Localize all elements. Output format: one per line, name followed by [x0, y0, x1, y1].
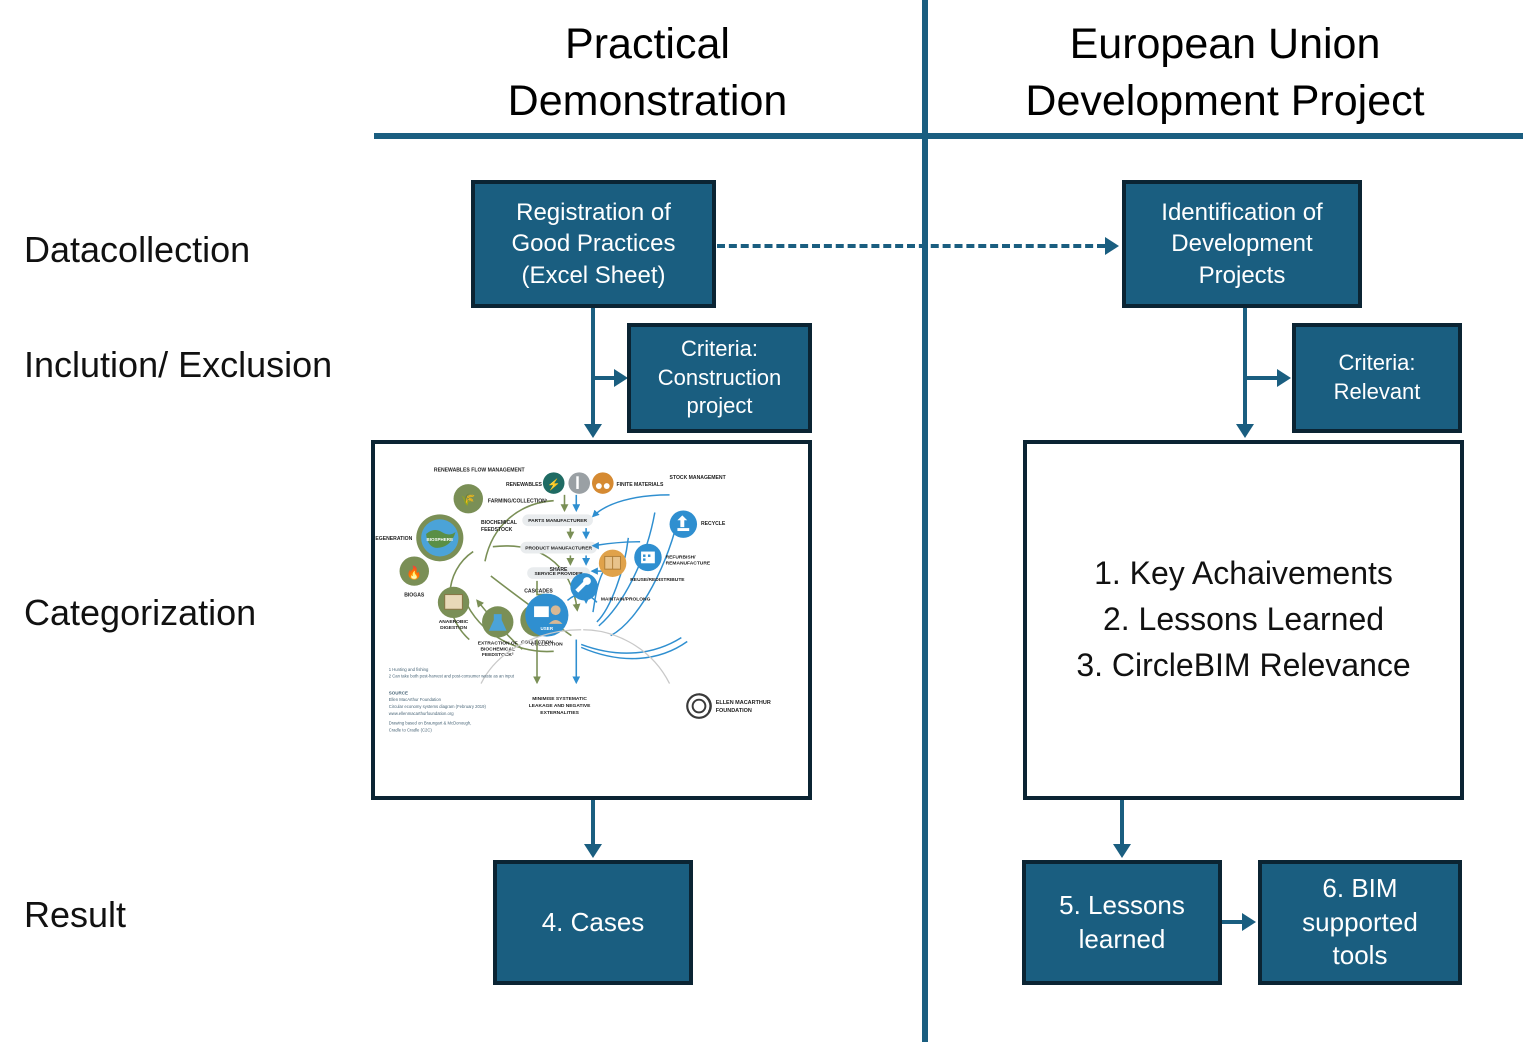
svg-text:Cradle to Cradle (C2C): Cradle to Cradle (C2C) [389, 727, 433, 732]
connector-identification-down [1243, 308, 1247, 426]
svg-text:PARTS MANUFACTURER: PARTS MANUFACTURER [528, 518, 587, 524]
svg-text:USER: USER [541, 626, 554, 631]
panel-categorization-steps: 1. Key Achaivements 2. Lessons Learned 3… [1023, 440, 1464, 800]
svg-text:BIOSPHERE: BIOSPHERE [427, 537, 454, 542]
column-divider [922, 0, 928, 1042]
panel-circular-economy-diagram: ⚡ RENEWABLES FINITE MATERIALS RENEWABLES… [371, 440, 812, 800]
ellen-macarthur-foundation-logo: ELLEN MACARTHUR FOUNDATION [687, 694, 771, 717]
svg-text:DIGESTION: DIGESTION [440, 625, 467, 631]
box-identification-of-development-projects[interactable]: Identification of Development Projects [1122, 180, 1362, 308]
circular-economy-butterfly-icon: ⚡ RENEWABLES FINITE MATERIALS RENEWABLES… [375, 444, 808, 796]
box-result-lessons-learned[interactable]: 5. Lessons learned [1022, 860, 1222, 985]
arrowhead-criteria-left [614, 369, 628, 387]
svg-text:FARMING/COLLECTION¹: FARMING/COLLECTION¹ [488, 499, 548, 505]
arrowhead-lessons-down [1113, 844, 1131, 858]
connector-butterfly-to-cases [591, 800, 595, 846]
svg-text:MAINTAIN/PROLONG: MAINTAIN/PROLONG [601, 596, 651, 602]
svg-text:ANAEROBIC: ANAEROBIC [439, 619, 469, 625]
svg-text:REFURBISH/: REFURBISH/ [666, 554, 697, 560]
column-header-eu-development-project: European Union Development Project [935, 16, 1515, 130]
svg-text:LEAKAGE AND NEGATIVE: LEAKAGE AND NEGATIVE [529, 703, 591, 709]
connector-registration-down [591, 308, 595, 426]
svg-text:FINITE MATERIALS: FINITE MATERIALS [617, 482, 664, 488]
categorization-steps-list: 1. Key Achaivements 2. Lessons Learned 3… [1076, 551, 1410, 688]
svg-text:REGENERATION: REGENERATION [375, 536, 413, 542]
svg-text:🌾: 🌾 [461, 493, 476, 507]
svg-text:FEEDSTOCK: FEEDSTOCK [481, 527, 513, 533]
arrowhead-criteria-right [1277, 369, 1291, 387]
svg-text:SHARE: SHARE [550, 567, 568, 573]
svg-text:EXTRACTION OF: EXTRACTION OF [478, 640, 518, 646]
box-criteria-relevant[interactable]: Criteria: Relevant [1292, 323, 1462, 433]
column-header-practical-demonstration: Practical Demonstration [375, 16, 920, 130]
svg-text:RENEWABLES: RENEWABLES [506, 482, 543, 488]
svg-text:1 Hunting and fishing: 1 Hunting and fishing [389, 667, 429, 672]
dashed-connector-registration-to-identification [717, 244, 1105, 248]
arrowhead-registration-down [584, 424, 602, 438]
svg-text:BIOGAS: BIOGAS [404, 593, 425, 599]
svg-text:PRODUCT MANUFACTURER: PRODUCT MANUFACTURER [525, 546, 592, 552]
arrowhead-identification-down [1236, 424, 1254, 438]
svg-text:EXTERNALITIES: EXTERNALITIES [540, 710, 579, 716]
box-criteria-construction-project[interactable]: Criteria: Construction project [627, 323, 812, 433]
svg-text:RECYCLE: RECYCLE [701, 521, 726, 527]
connector-steps-to-lessons [1120, 800, 1124, 846]
svg-text:RENEWABLES FLOW MANAGEMENT: RENEWABLES FLOW MANAGEMENT [434, 467, 526, 473]
svg-text:COLLECTION: COLLECTION [531, 641, 563, 647]
svg-text:FOUNDATION: FOUNDATION [716, 708, 752, 714]
arrowhead-bim-right [1242, 913, 1256, 931]
svg-text:⚡: ⚡ [547, 478, 560, 491]
arrowhead-cases-down [584, 844, 602, 858]
svg-text:www.ellenmacarthurfoundation.o: www.ellenmacarthurfoundation.org [389, 711, 455, 716]
connector-lessons-to-bim [1222, 920, 1244, 924]
svg-text:ELLEN MACARTHUR: ELLEN MACARTHUR [716, 700, 771, 706]
svg-text:Circular economy systems diagr: Circular economy systems diagram (Februa… [389, 704, 487, 709]
svg-text:BIOCHEMICAL: BIOCHEMICAL [481, 520, 517, 526]
svg-text:MINIMISE SYSTEMATIC: MINIMISE SYSTEMATIC [532, 696, 587, 702]
row-label-categorization: Categorization [24, 592, 256, 634]
box-result-bim-supported-tools[interactable]: 6. BIM supported tools [1258, 860, 1462, 985]
row-label-result: Result [24, 894, 126, 936]
connector-to-criteria-right [1243, 376, 1279, 380]
diagram-canvas: Practical Demonstration European Union D… [0, 0, 1523, 1042]
svg-text:🔥: 🔥 [406, 565, 422, 580]
svg-text:2 Can take both post-harvest a: 2 Can take both post-harvest and post-co… [389, 674, 515, 679]
row-label-inclusion-exclusion: Inclution/ Exclusion [24, 344, 332, 386]
row-label-datacollection: Datacollection [24, 229, 250, 271]
svg-text:STOCK MANAGEMENT: STOCK MANAGEMENT [670, 475, 727, 481]
arrowhead-dashed-right [1105, 237, 1119, 255]
svg-text:REUSE/REDISTRIBUTE: REUSE/REDISTRIBUTE [630, 577, 685, 583]
svg-text:Drawing based on Braungart & M: Drawing based on Braungart & McDonough, [389, 721, 472, 726]
header-underline [374, 133, 1523, 139]
svg-text:SOURCE: SOURCE [389, 690, 408, 695]
box-result-cases[interactable]: 4. Cases [493, 860, 693, 985]
svg-text:FEEDSTOCK²: FEEDSTOCK² [482, 652, 514, 658]
box-registration-of-good-practices[interactable]: Registration of Good Practices (Excel Sh… [471, 180, 716, 308]
svg-text:Ellen MacArthur Foundation: Ellen MacArthur Foundation [389, 697, 442, 702]
svg-text:REMANUFACTURE: REMANUFACTURE [666, 560, 711, 566]
